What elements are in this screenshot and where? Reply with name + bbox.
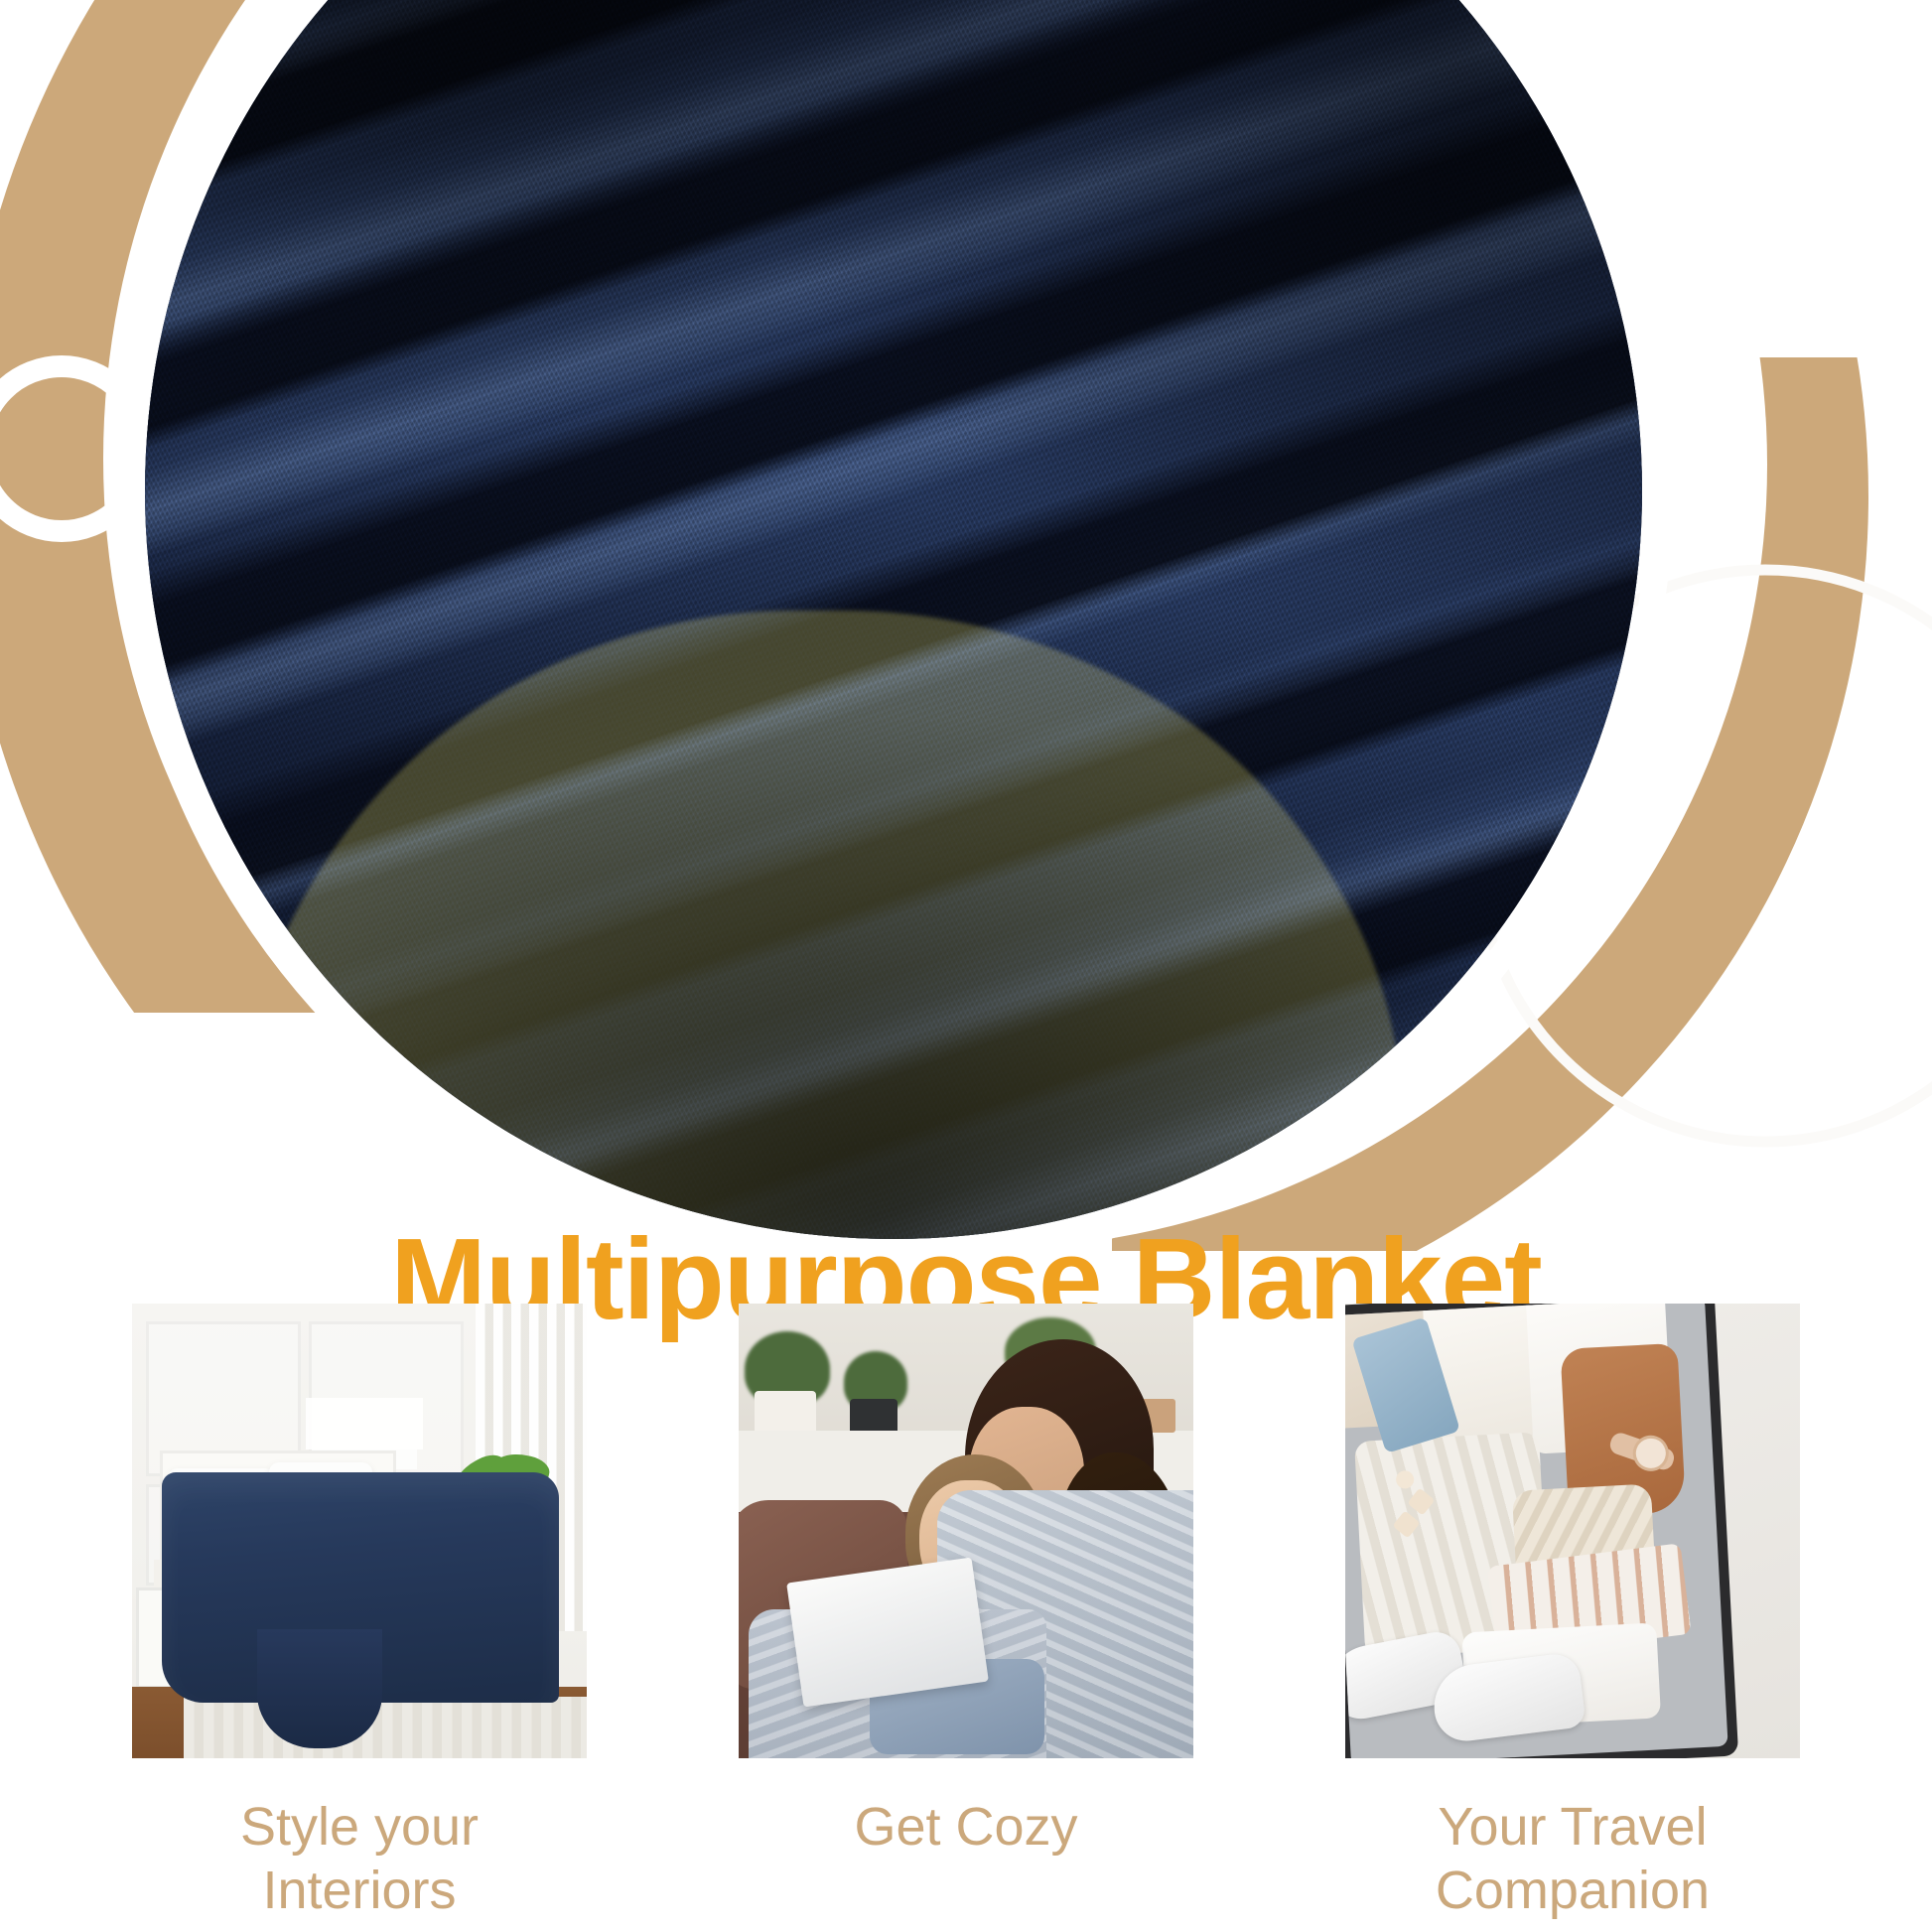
feature-caption-your-travel-companion: Your Travel Companion bbox=[1345, 1796, 1800, 1922]
feature-card-style-your-interiors[interactable]: Style your Interiors bbox=[132, 1304, 587, 1922]
white-ring-small-left bbox=[0, 366, 144, 531]
feature-caption-get-cozy: Get Cozy bbox=[739, 1796, 1193, 1860]
poster-canvas: Multipurpose Blanket bbox=[0, 0, 1932, 1932]
feature-row: Style your Interiors bbox=[132, 1304, 1800, 1922]
feature-card-get-cozy[interactable]: Get Cozy bbox=[739, 1304, 1193, 1922]
hero-product-image bbox=[145, 0, 1642, 1239]
bedroom-with-navy-blanket-image bbox=[132, 1304, 587, 1758]
packed-suitcase-image bbox=[1345, 1304, 1800, 1758]
feature-card-your-travel-companion[interactable]: Your Travel Companion bbox=[1345, 1304, 1800, 1922]
feature-caption-style-your-interiors: Style your Interiors bbox=[132, 1796, 587, 1922]
mother-and-daughter-reading-image bbox=[739, 1304, 1193, 1758]
hero-shadow-overlay bbox=[145, 0, 1642, 1239]
